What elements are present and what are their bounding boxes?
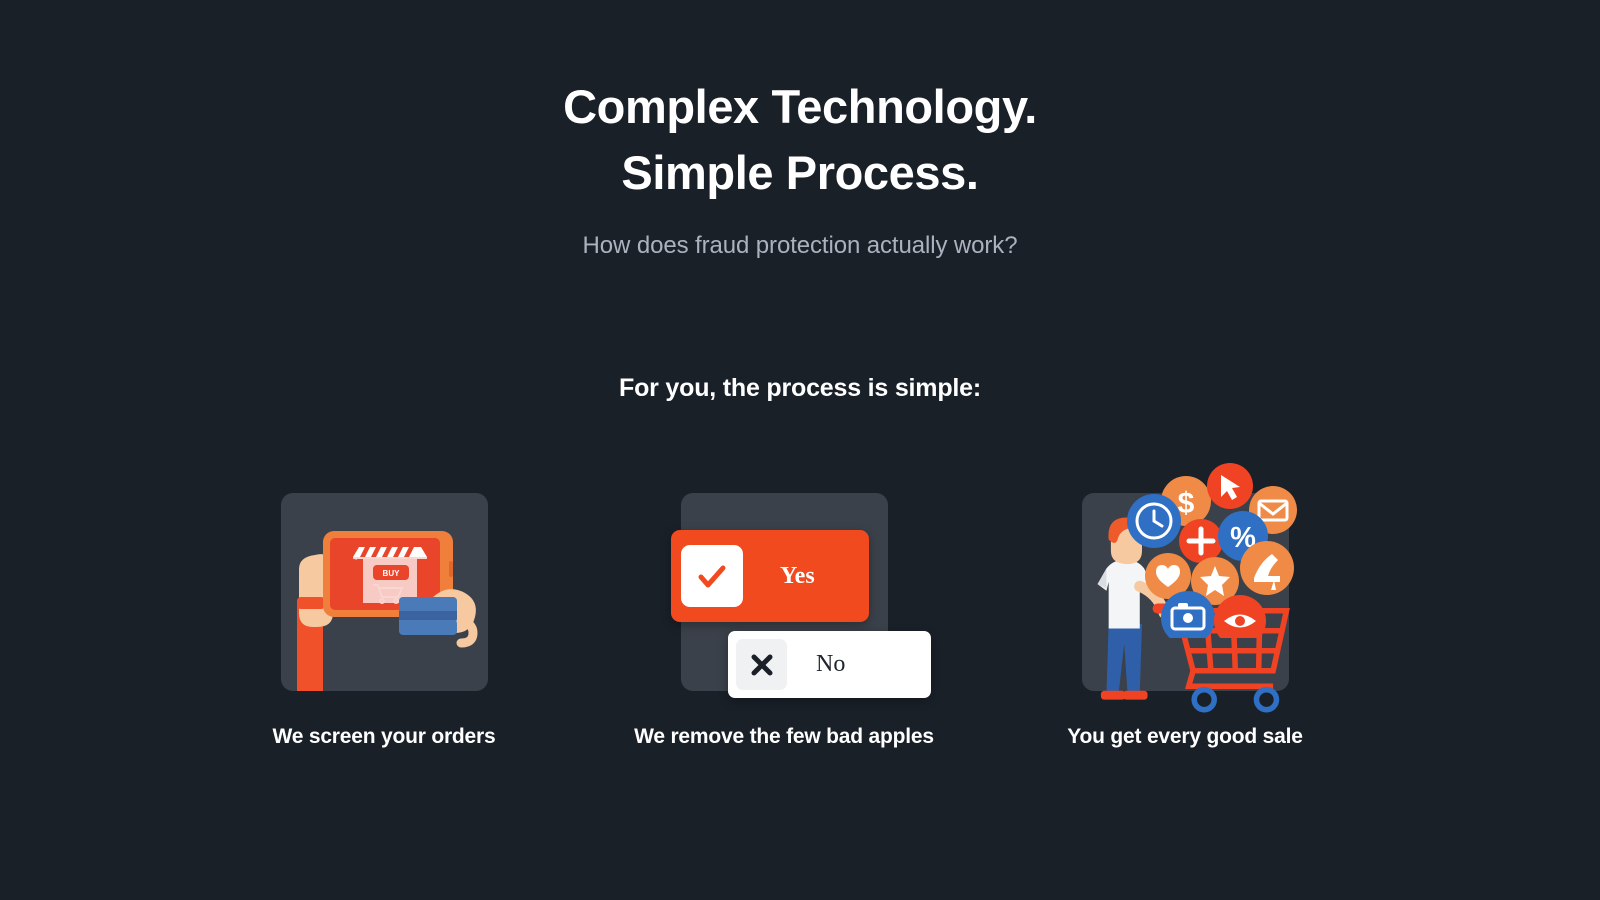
step-screen-orders: BUY We screen your orders — [269, 470, 499, 790]
no-option-label: No — [816, 651, 845, 678]
yes-checkbox[interactable] — [681, 545, 743, 607]
tablet-purchase-illustration: BUY — [281, 493, 488, 691]
step-remove-bad-apples: Yes No We remove the few bad apples — [669, 470, 899, 790]
page-root: Complex Technology. Simple Process. How … — [0, 0, 1600, 900]
process-intro-text: For you, the process is simple: — [0, 374, 1600, 403]
headline-line-2: Simple Process. — [0, 140, 1600, 206]
high-heel-icon — [1240, 541, 1294, 595]
page-subtitle: How does fraud protection actually work? — [0, 232, 1600, 260]
no-option-card[interactable]: No — [728, 631, 931, 698]
step-1-illustration-card: BUY — [281, 493, 488, 691]
yes-option-label: Yes — [780, 563, 815, 590]
page-title: Complex Technology. Simple Process. — [0, 74, 1600, 206]
yes-option-card[interactable]: Yes — [671, 530, 869, 622]
page-header: Complex Technology. Simple Process. How … — [0, 74, 1600, 260]
close-icon — [748, 651, 776, 679]
cursor-icon — [1207, 463, 1253, 509]
step-3-caption: You get every good sale — [980, 725, 1390, 749]
clock-icon — [1127, 494, 1181, 548]
step-2-illustration-card: Yes No — [681, 493, 888, 691]
step-every-good-sale: $ — [1070, 470, 1300, 790]
icon-bubble-cluster: $ — [1082, 458, 1312, 638]
process-steps: BUY We screen your orders — [0, 470, 1600, 790]
step-3-illustration-card: $ — [1082, 493, 1289, 691]
no-checkbox[interactable] — [736, 639, 787, 690]
buy-button-label: BUY — [383, 569, 401, 578]
headline-line-1: Complex Technology. — [0, 74, 1600, 140]
check-icon — [695, 559, 729, 593]
step-2-caption: We remove the few bad apples — [579, 725, 989, 749]
step-1-caption: We screen your orders — [179, 725, 589, 749]
plus-icon — [1179, 519, 1223, 563]
